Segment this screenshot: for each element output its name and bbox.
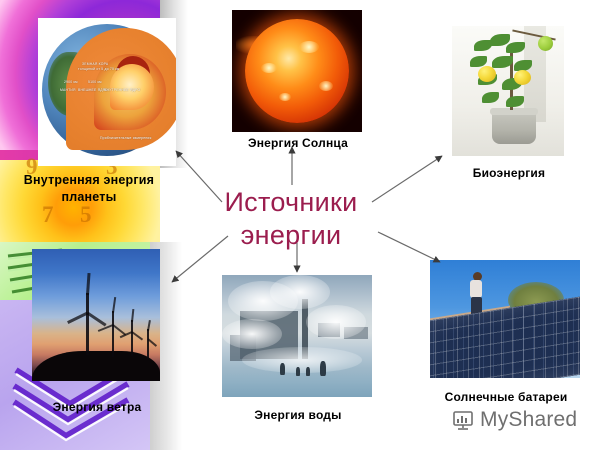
presentation-board-icon — [452, 409, 474, 431]
caption-line-2: планеты — [62, 190, 117, 204]
arrow-to-solar-panels — [378, 232, 440, 262]
turbine-mast — [112, 311, 114, 357]
solar-panels-image — [430, 260, 580, 378]
plant-pot — [492, 110, 536, 144]
steam-cloud — [242, 347, 362, 373]
earth-label-depth2: 5100 км — [88, 80, 102, 84]
caption-water-energy: Энергия воды — [216, 408, 380, 422]
water-energy-image — [222, 275, 372, 397]
page-title: Источники энергии — [196, 186, 386, 252]
person-torso — [470, 280, 482, 298]
turbine-blade — [147, 320, 151, 331]
turbine-blade — [67, 312, 88, 324]
earth-interior-image: ЗЕМНАЯ КОРА толщиной от 5 до 70 км 2900 … — [38, 18, 176, 166]
page-title-line-1: Источники — [224, 187, 357, 217]
sun-disc — [245, 19, 349, 123]
wind-energy-image — [32, 249, 160, 381]
earth-label-crust-sub: толщиной от 5 до 70 км — [78, 67, 119, 71]
steam-cloud — [222, 319, 282, 349]
turbine-blade — [86, 273, 91, 295]
lime-fruit — [538, 36, 553, 51]
person-in-water — [280, 363, 285, 375]
earth-label-crust: ЗЕМНАЯ КОРА — [82, 62, 108, 66]
caption-solar-panels: Солнечные батареи — [420, 390, 592, 404]
earth-label-depth1: 2900 км — [64, 80, 78, 84]
sun-bright-spot — [299, 41, 319, 53]
turbine-blade — [112, 297, 116, 313]
sun-bright-spot — [261, 63, 277, 73]
page-title-line-2: энергии — [241, 220, 342, 250]
caption-line-1: Внутренняя энергия — [24, 173, 154, 187]
person-in-water — [306, 367, 310, 376]
earth-label-mantle: МАНТИЯ — [60, 88, 76, 92]
lemon-fruit — [478, 66, 496, 82]
steam-cloud — [306, 305, 366, 339]
sun-bright-spot — [319, 81, 333, 91]
earth-label-note: Приблизительные измерения — [100, 136, 152, 140]
plant-pot-rim — [490, 108, 538, 115]
earth-label-inner-core: ВНУТРЕННЕЕ ЯДРО — [104, 88, 140, 92]
caption-internal-planet-energy: Внутренняя энергия планеты — [0, 172, 178, 206]
watermark-label: MyShared — [480, 408, 577, 432]
myshared-watermark: MyShared — [452, 408, 577, 432]
sun-bright-spot — [279, 93, 291, 101]
turbine-blade — [131, 309, 134, 322]
wind-turbine — [140, 321, 158, 357]
sun-image — [232, 10, 362, 132]
turbine-mast — [86, 293, 89, 355]
steam-cloud — [270, 275, 330, 309]
turbine-mast — [147, 329, 149, 359]
caption-solar-energy: Энергия Солнца — [232, 136, 364, 150]
lemon-fruit — [514, 70, 531, 85]
turbine-mast — [131, 320, 133, 356]
caption-bioenergy: Биоэнергия — [448, 166, 570, 180]
slide-canvas: 9 3 7 5 ЗЕМНАЯ КОРА толщиной от 5 до 70 … — [0, 0, 600, 450]
person-in-water — [320, 361, 326, 376]
person-in-water — [296, 367, 300, 376]
bioenergy-plant-image — [452, 26, 564, 156]
caption-wind-energy: Энергия ветра — [18, 400, 176, 414]
